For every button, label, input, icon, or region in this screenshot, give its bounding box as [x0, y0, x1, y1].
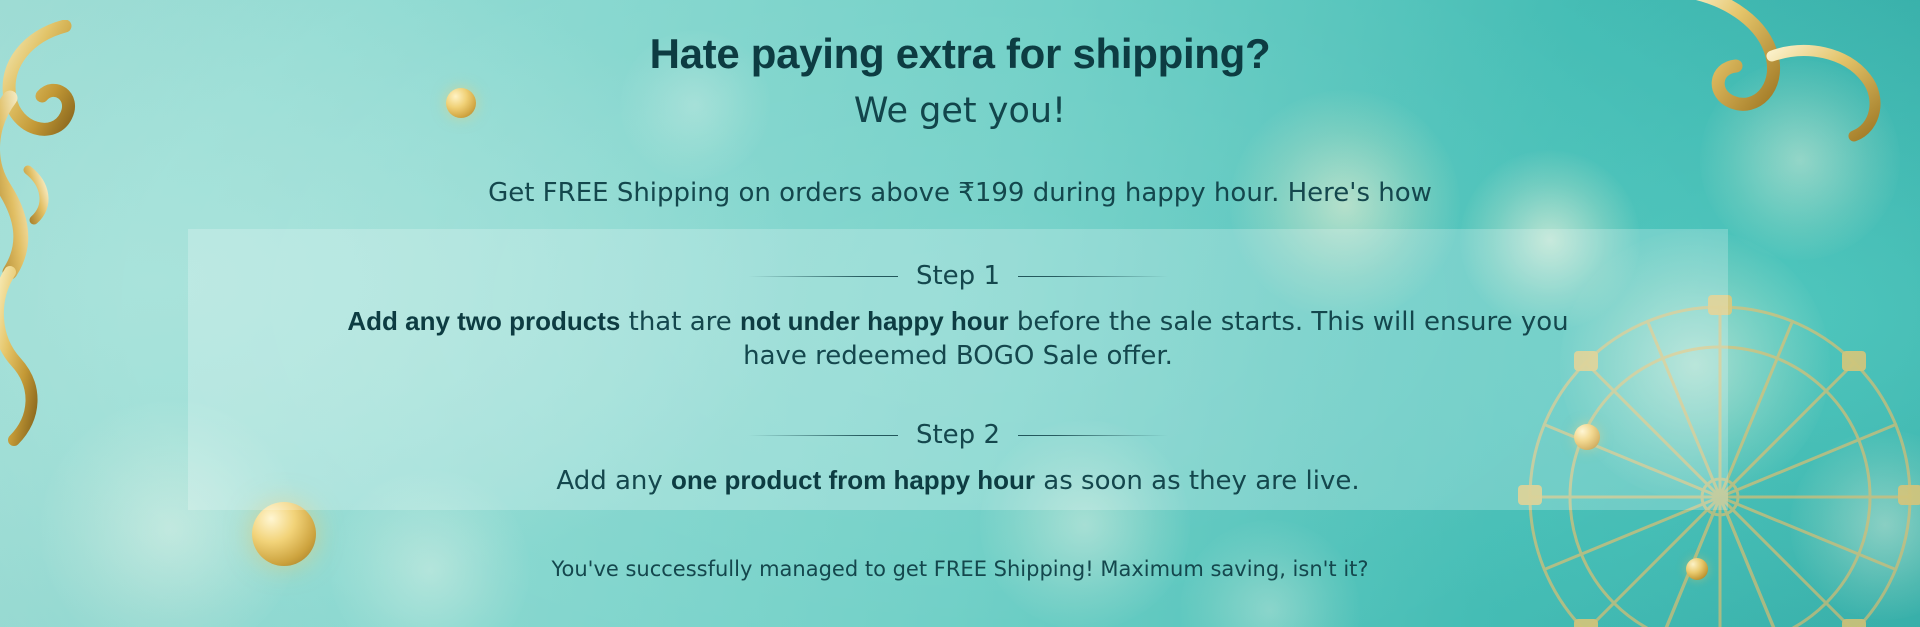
divider-line-right — [1018, 435, 1168, 436]
banner-content: Hate paying extra for shipping? We get y… — [0, 0, 1920, 627]
step-2-body: Add any one product from happy hour as s… — [188, 463, 1728, 498]
closing-note: You've successfully managed to get FREE … — [0, 557, 1920, 581]
step-1-header: Step 1 — [188, 261, 1728, 291]
steps-panel: Step 1 Add any two products that are not… — [188, 229, 1728, 510]
step-1-label: Step 1 — [916, 261, 1000, 291]
step-2-header: Step 2 — [188, 420, 1728, 450]
offer-description: Get FREE Shipping on orders above ₹199 d… — [0, 178, 1920, 208]
step-1-body: Add any two products that are not under … — [188, 304, 1728, 374]
page-title: Hate paying extra for shipping? — [0, 30, 1920, 78]
divider-line-right — [1018, 276, 1168, 277]
page-subtitle: We get you! — [0, 91, 1920, 131]
divider-line-left — [748, 276, 898, 277]
divider-line-left — [748, 435, 898, 436]
step-2-label: Step 2 — [916, 420, 1000, 450]
